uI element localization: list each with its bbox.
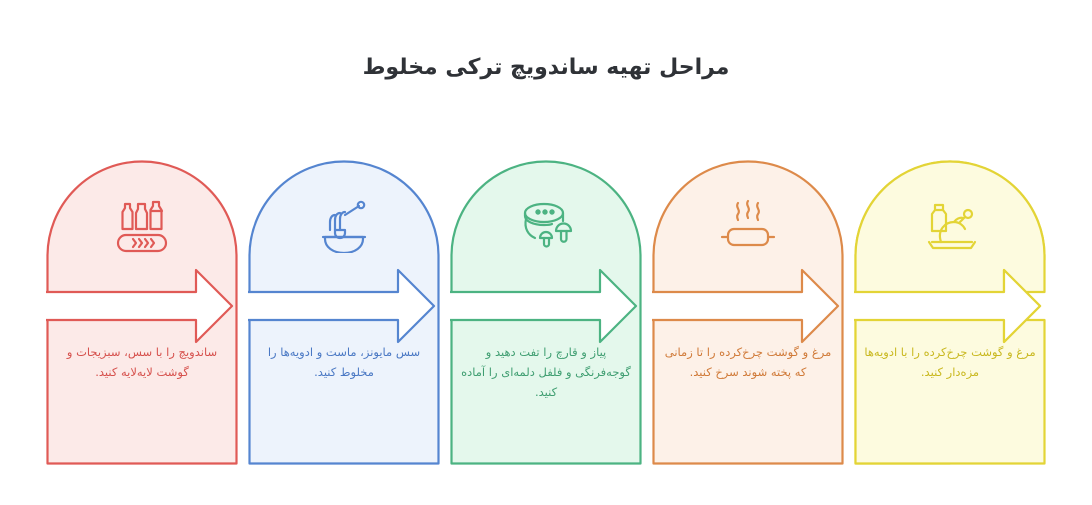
step-description-1: مرغ و گوشت چرخ‌کرده را با ادویه‌ها مزه‌د…: [864, 342, 1036, 382]
step-description-5: ساندویچ را با سس، سبزیجات و گوشت لایه‌لا…: [56, 342, 228, 382]
page-title: مراحل تهیه ساندویچ ترکی مخلوط: [0, 55, 1092, 80]
card-shape-1: [854, 160, 1046, 465]
card-shape-3: [450, 160, 642, 465]
infographic-page: { "header": { "title": "مراحل تهیه ساندو…: [0, 0, 1092, 505]
step-description-3: پیاز و قارچ را تفت دهید و گوجه‌فرنگی و ف…: [460, 342, 632, 402]
card-shape-4: [248, 160, 440, 465]
step-card-4[interactable]: سس مایونز، ماست و ادویه‌ها را مخلوط کنید…: [248, 160, 440, 465]
card-shape-5: [46, 160, 238, 465]
step-card-1[interactable]: مرغ و گوشت چرخ‌کرده را با ادویه‌ها مزه‌د…: [854, 160, 1046, 465]
step-card-5[interactable]: ساندویچ را با سس، سبزیجات و گوشت لایه‌لا…: [46, 160, 238, 465]
card-shape-2: [652, 160, 844, 465]
step-description-2: مرغ و گوشت چرخ‌کرده را تا زمانی که پخته …: [662, 342, 834, 382]
step-card-2[interactable]: مرغ و گوشت چرخ‌کرده را تا زمانی که پخته …: [652, 160, 844, 465]
step-card-3[interactable]: پیاز و قارچ را تفت دهید و گوجه‌فرنگی و ف…: [450, 160, 642, 465]
step-description-4: سس مایونز، ماست و ادویه‌ها را مخلوط کنید…: [258, 342, 430, 382]
process-flow: مرغ و گوشت چرخ‌کرده را با ادویه‌ها مزه‌د…: [46, 160, 1046, 465]
